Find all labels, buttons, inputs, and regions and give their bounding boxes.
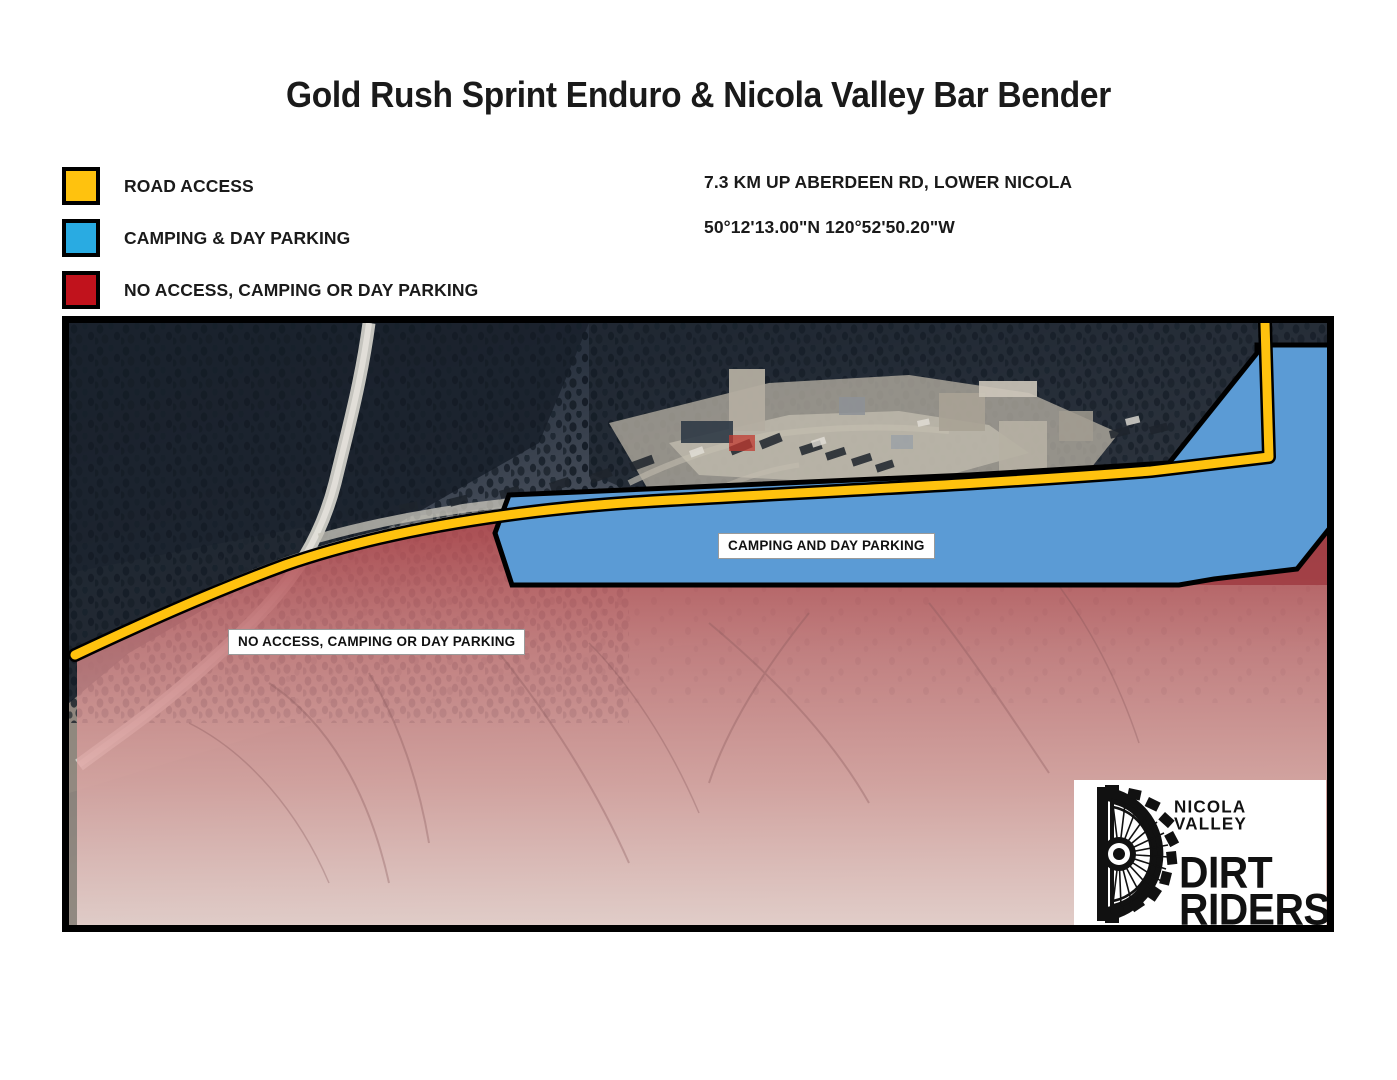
logo-line-valley: VALLEY <box>1174 815 1334 833</box>
legend-item-no-access: NO ACCESS, CAMPING OR DAY PARKING <box>62 264 662 316</box>
legend-swatch-road-access <box>62 167 100 205</box>
legend-item-road-access: ROAD ACCESS <box>62 160 662 212</box>
location-info: 7.3 KM UP ABERDEEN RD, LOWER NICOLA 50°1… <box>704 172 1324 262</box>
legend-item-camping-day-parking: CAMPING & DAY PARKING <box>62 212 662 264</box>
logo-word-riders: RIDERS <box>1179 890 1330 930</box>
legend-label-road-access: ROAD ACCESS <box>124 176 254 197</box>
legend-label-no-access: NO ACCESS, CAMPING OR DAY PARKING <box>124 280 478 301</box>
legend-swatch-no-access <box>62 271 100 309</box>
map-frame: CAMPING AND DAY PARKING NO ACCESS, CAMPI… <box>62 316 1334 932</box>
location-coordinates: 50°12'13.00"N 120°52'50.20"W <box>704 217 1324 238</box>
logo-nicola-valley-dirt-riders: NICOLA VALLEY DIRT RIDERS <box>1074 780 1326 928</box>
legend-swatch-camping-day-parking <box>62 219 100 257</box>
legend-label-camping-day-parking: CAMPING & DAY PARKING <box>124 228 350 249</box>
map-callout-camping: CAMPING AND DAY PARKING <box>718 533 935 559</box>
legend: ROAD ACCESS CAMPING & DAY PARKING NO ACC… <box>62 160 662 316</box>
location-address: 7.3 KM UP ABERDEEN RD, LOWER NICOLA <box>704 172 1324 193</box>
page-title: Gold Rush Sprint Enduro & Nicola Valley … <box>49 74 1348 116</box>
logo-text: NICOLA VALLEY DIRT RIDERS <box>1174 798 1334 833</box>
map-callout-no-access: NO ACCESS, CAMPING OR DAY PARKING <box>228 629 525 655</box>
